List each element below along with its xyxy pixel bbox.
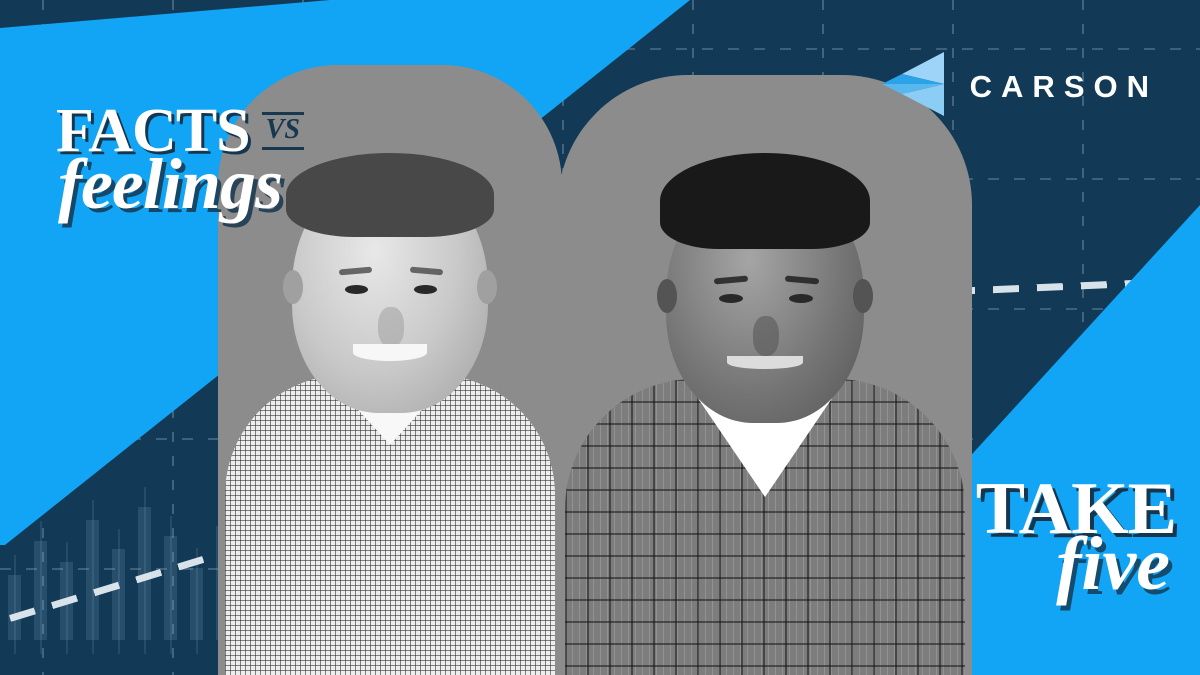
segment-logo: TAKE five [886, 476, 1176, 597]
candlestick-body [112, 549, 125, 640]
host-eye [789, 294, 813, 303]
host-eye [414, 285, 438, 294]
carson-wordmark: CARSON [970, 69, 1158, 105]
candlestick-body [190, 568, 203, 640]
host-ear [853, 279, 873, 313]
carson-chevron-icon [882, 52, 944, 121]
show-logo: FACTSVS feelings [56, 104, 386, 215]
host-nose [378, 307, 403, 346]
host-hair [660, 153, 870, 249]
host-head [666, 175, 864, 423]
host-nose [753, 316, 779, 356]
candlestick-body [34, 541, 47, 640]
host-eyebrow [339, 266, 373, 275]
host-mouth [727, 356, 802, 369]
host-ear [283, 270, 303, 304]
host-eye [719, 294, 743, 303]
candlestick-body [164, 536, 177, 641]
host-eyebrow [409, 266, 443, 275]
carson-logo: CARSON [882, 52, 1158, 121]
host-ear [657, 279, 677, 313]
show-logo-feelings: feelings [58, 154, 386, 215]
host-eye [345, 285, 369, 294]
candlestick-body [86, 520, 99, 640]
thumbnail-canvas: FACTSVS feelings TAKE five CARSON [0, 0, 1200, 675]
host-eyebrow [713, 275, 747, 284]
host-eyebrow [785, 275, 819, 284]
candlestick-body [8, 575, 21, 640]
host-mouth [353, 344, 427, 361]
host-torso [225, 375, 555, 675]
